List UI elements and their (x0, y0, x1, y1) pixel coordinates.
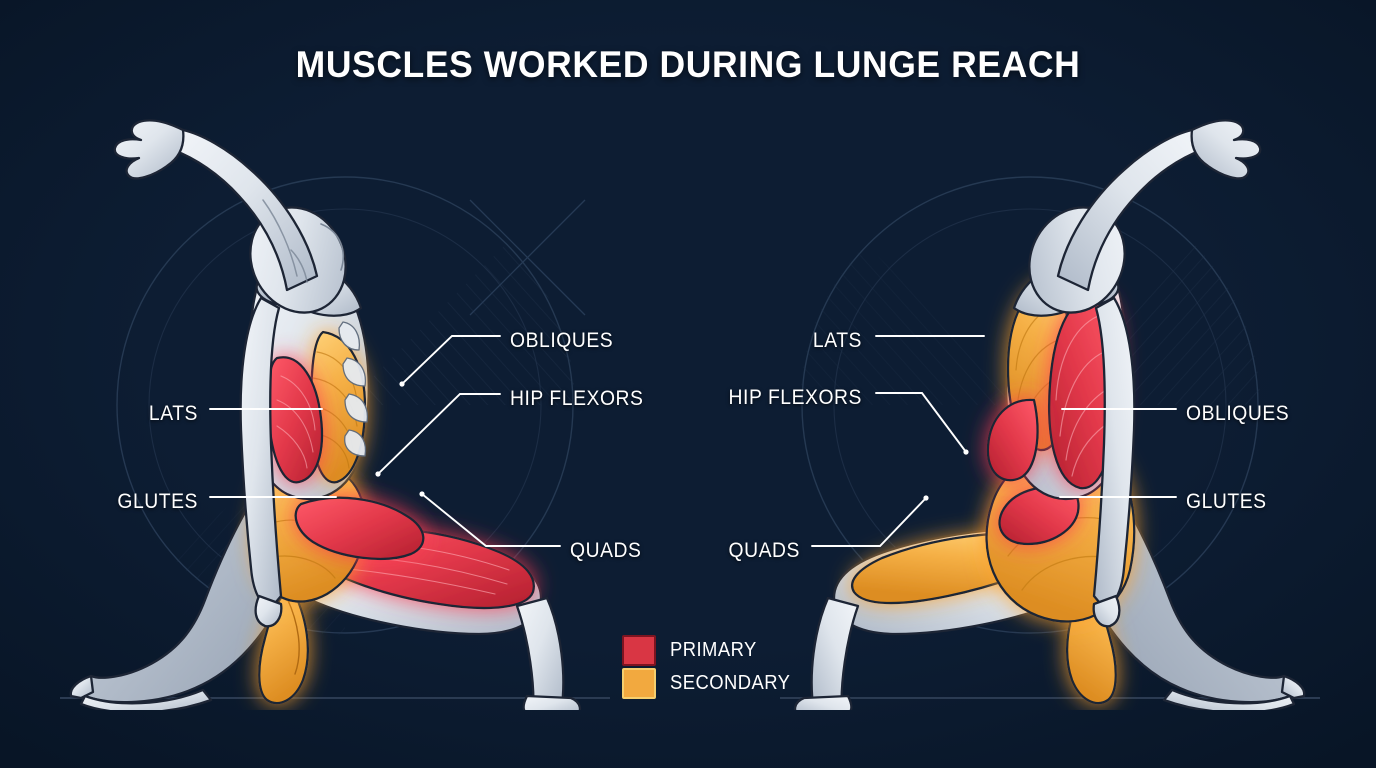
legend-label-secondary: SECONDARY (670, 672, 790, 695)
front-shin (812, 598, 858, 710)
front-shin (517, 598, 563, 710)
hand-raised (1192, 120, 1261, 178)
page-title: MUSCLES WORKED DURING LUNGE REACH (28, 44, 1349, 86)
label-right-hip-flexors: HIP FLEXORS (676, 386, 862, 410)
legend-swatch-secondary (622, 668, 656, 699)
label-left-quads: QUADS (570, 539, 641, 563)
label-left-hip-flexors: HIP FLEXORS (510, 387, 643, 411)
label-right-obliques: OBLIQUES (1186, 402, 1289, 426)
legend-item-secondary: SECONDARY (622, 667, 801, 700)
infographic-canvas: MUSCLES WORKED DURING LUNGE REACH LATS G… (0, 0, 1376, 768)
obliques-primary-highlight (988, 400, 1038, 480)
label-right-lats: LATS (676, 329, 862, 353)
label-left-obliques: OBLIQUES (510, 329, 613, 353)
label-left-lats: LATS (16, 402, 198, 426)
label-left-glutes: GLUTES (16, 490, 198, 514)
legend-swatch-primary (622, 635, 656, 666)
front-foot (524, 696, 580, 710)
hand-raised (115, 120, 184, 178)
front-foot (795, 696, 851, 710)
legend: PRIMARY SECONDARY (622, 634, 801, 700)
legend-label-primary: PRIMARY (670, 639, 757, 662)
label-right-quads: QUADS (634, 539, 800, 563)
legend-item-primary: PRIMARY (622, 634, 801, 667)
label-right-glutes: GLUTES (1186, 490, 1267, 514)
